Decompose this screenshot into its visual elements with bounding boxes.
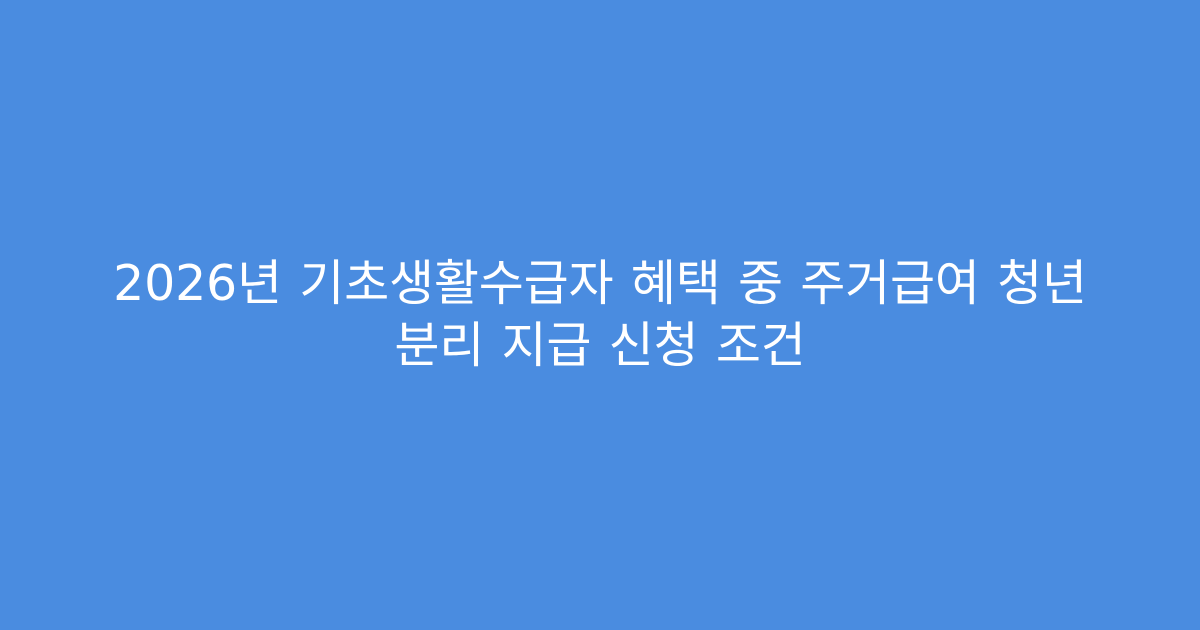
thumbnail-card: 2026년 기초생활수급자 혜택 중 주거급여 청년 분리 지급 신청 조건 [0,0,1200,630]
headline-container: 2026년 기초생활수급자 혜택 중 주거급여 청년 분리 지급 신청 조건 [70,253,1130,377]
page-title: 2026년 기초생활수급자 혜택 중 주거급여 청년 분리 지급 신청 조건 [90,253,1110,377]
